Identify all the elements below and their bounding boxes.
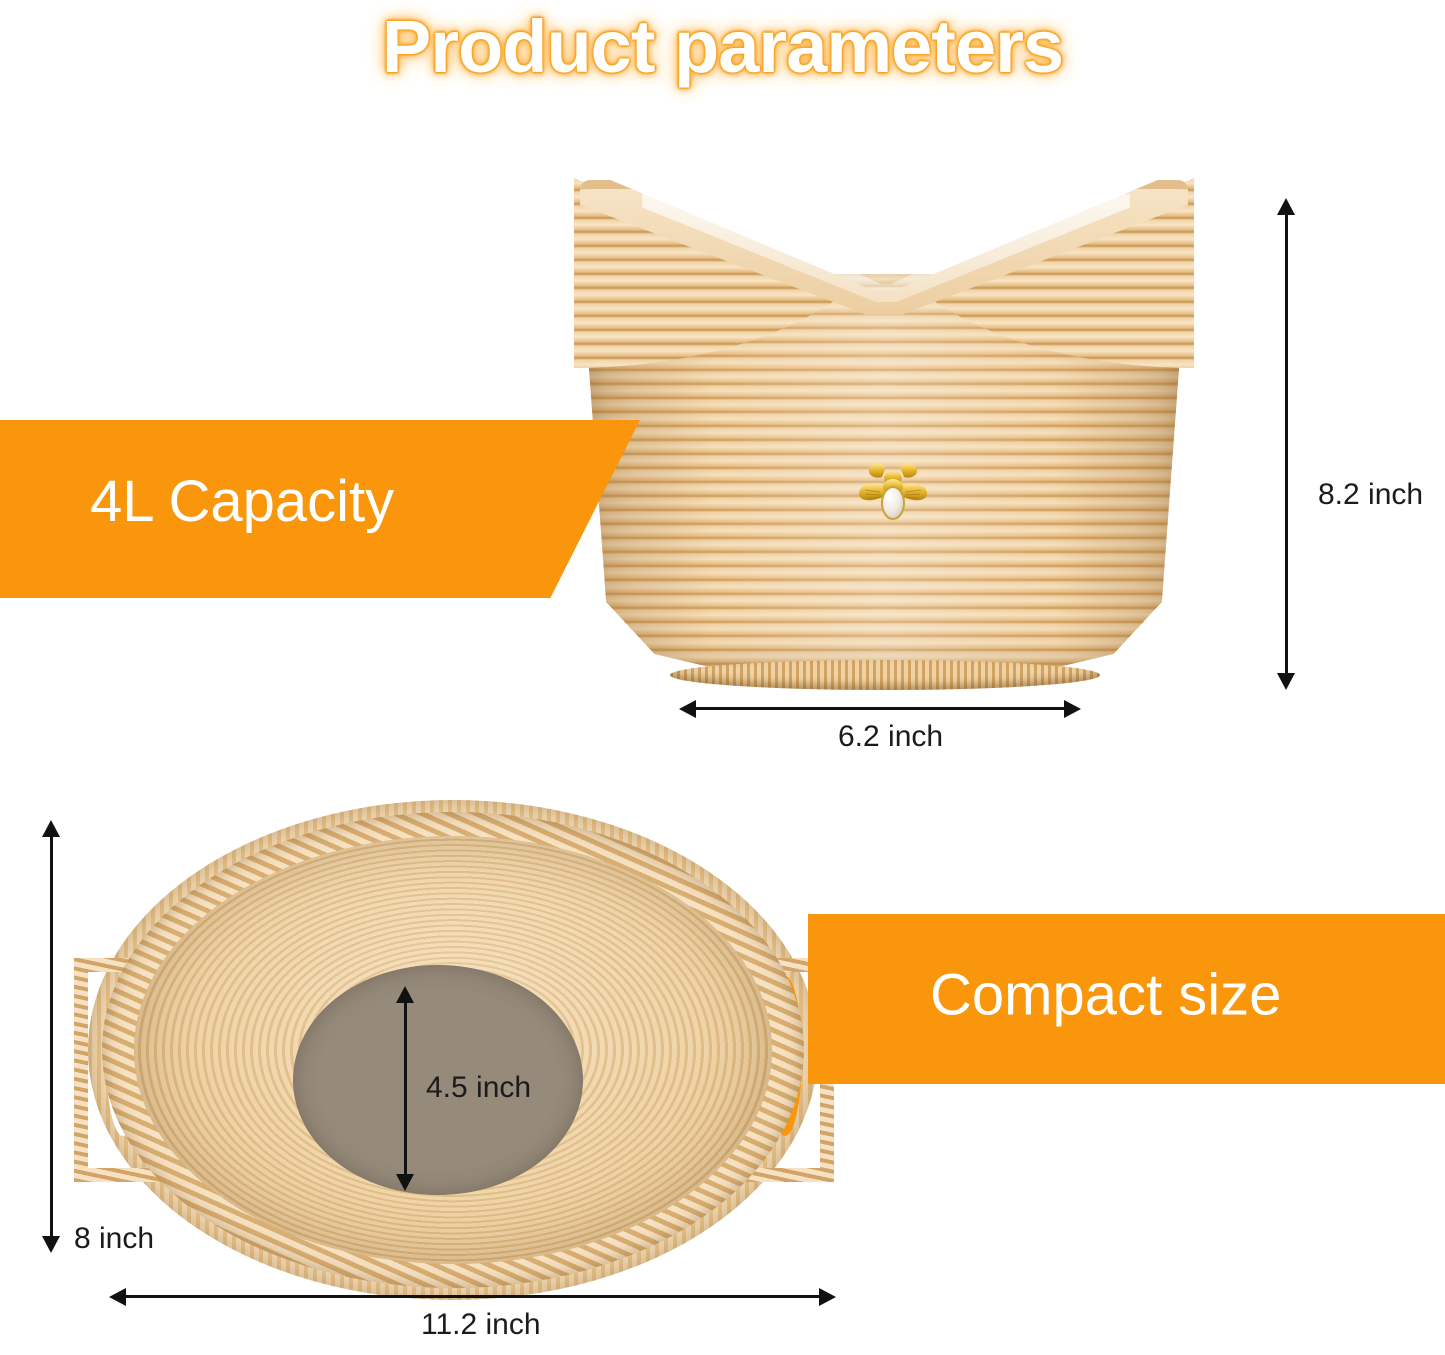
dimension-label-length: 11.2 inch: [421, 1308, 541, 1342]
arrow-up-icon: [42, 820, 60, 837]
wicker-basket-side-view: [560, 178, 1208, 688]
arrow-right-icon: [819, 1288, 836, 1306]
dimension-label-height: 8.2 inch: [1318, 478, 1423, 512]
arrow-left-icon: [109, 1288, 126, 1306]
arrow-right-icon: [1064, 700, 1081, 718]
compact-size-banner-label: Compact size: [930, 962, 1281, 1029]
arrow-up-icon: [1277, 198, 1295, 215]
arrow-down-icon: [42, 1236, 60, 1253]
bee-icon: [856, 461, 930, 523]
dimension-label-base-width: 6.2 inch: [838, 720, 943, 754]
page-title: Product parameters: [0, 4, 1445, 89]
arrow-left-icon: [679, 700, 696, 718]
arrow-up-icon: [396, 986, 414, 1003]
arrow-down-icon: [396, 1174, 414, 1191]
dimension-line-height: [1285, 210, 1288, 675]
arrow-down-icon: [1277, 673, 1295, 690]
dimension-line-depth: [50, 832, 53, 1238]
wicker-basket-top-view: [88, 800, 818, 1300]
dimension-label-depth: 8 inch: [74, 1222, 154, 1256]
dimension-line-base-width: [692, 707, 1067, 710]
capacity-banner-label: 4L Capacity: [90, 468, 394, 535]
dimension-line-base-diameter: [404, 998, 407, 1176]
basket-foot-ring: [670, 660, 1100, 690]
dimension-label-base-diameter: 4.5 inch: [426, 1071, 531, 1105]
dimension-line-length: [122, 1295, 822, 1298]
